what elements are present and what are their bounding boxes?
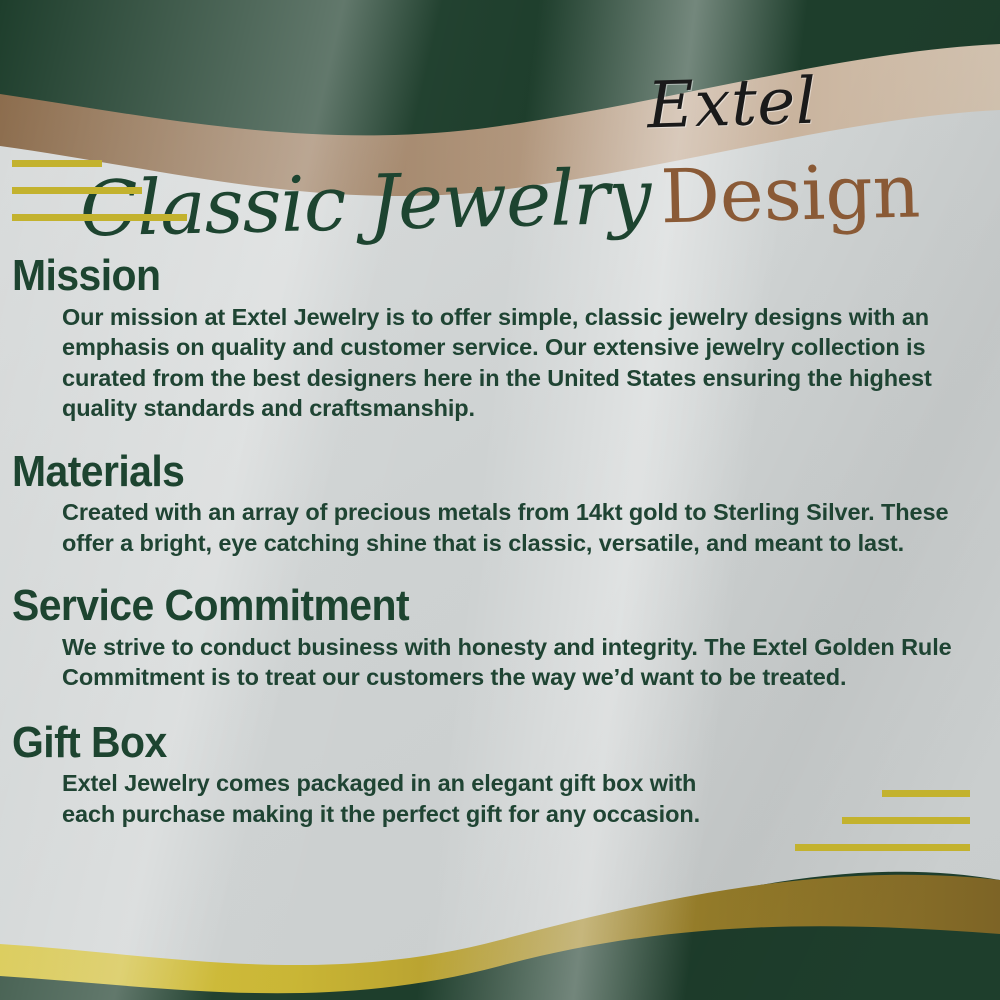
section-gift-box: Gift Box Extel Jewelry comes packaged in… — [0, 719, 1000, 830]
gold-rule-line — [12, 160, 102, 167]
content-sections: Mission Our mission at Extel Jewelry is … — [0, 252, 1000, 836]
section-paragraph: Created with an array of precious metals… — [62, 497, 970, 558]
gold-rule-line — [795, 844, 970, 851]
section-heading: Mission — [12, 252, 931, 300]
section-mission: Mission Our mission at Extel Jewelry is … — [0, 252, 1000, 424]
poster-canvas: Extel Classic JewelryDesign Mission Our … — [0, 0, 1000, 1000]
section-materials: Materials Created with an array of preci… — [0, 448, 1000, 559]
section-heading: Gift Box — [12, 719, 931, 767]
section-paragraph: Our mission at Extel Jewelry is to offer… — [62, 302, 970, 424]
section-heading: Service Commitment — [12, 582, 931, 630]
section-service-commitment: Service Commitment We strive to conduct … — [0, 582, 1000, 693]
section-paragraph: We strive to conduct business with hones… — [62, 632, 970, 693]
section-heading: Materials — [12, 448, 931, 496]
gold-rule-line — [12, 187, 142, 194]
gold-rule-line — [12, 214, 187, 221]
brand-logo: Extel — [611, 69, 853, 140]
title-roman-part: Design — [660, 148, 922, 240]
section-paragraph: Extel Jewelry comes packaged in an elega… — [62, 768, 750, 829]
decorative-rules-top-left — [12, 160, 187, 241]
